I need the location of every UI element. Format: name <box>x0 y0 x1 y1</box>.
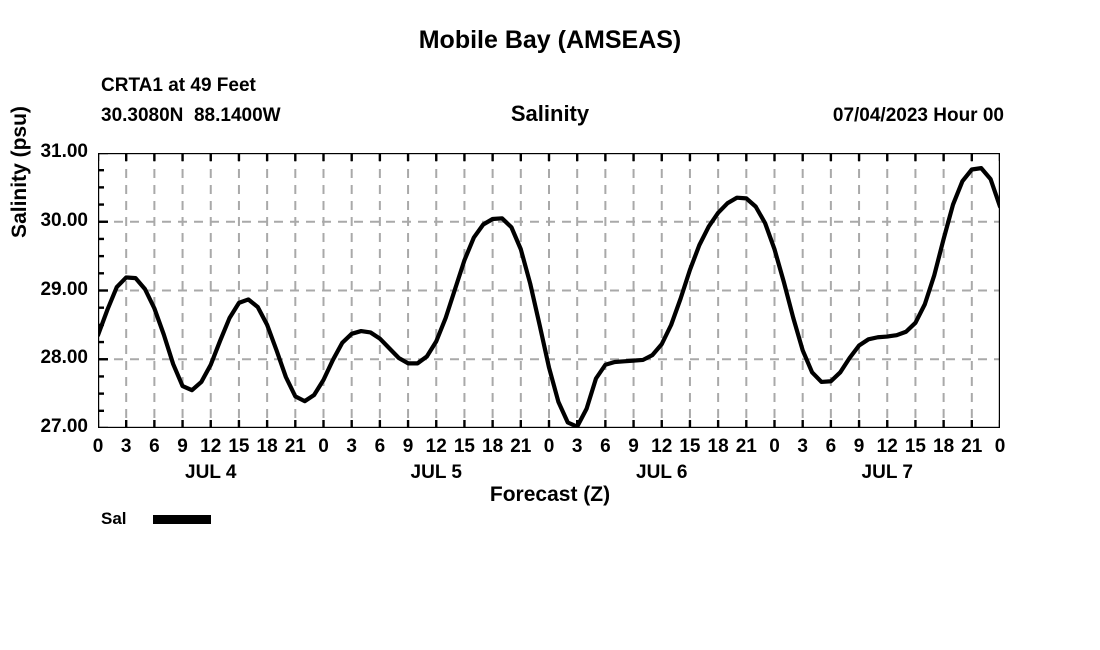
legend-label-sal: Sal <box>101 509 127 529</box>
y-tick-label: 30.00 <box>8 210 88 232</box>
station-depth-label: CRTA1 at 49 Feet <box>101 75 256 97</box>
legend-swatch-sal <box>153 515 211 524</box>
x-tick-label: 0 <box>980 436 1020 458</box>
y-tick-label: 31.00 <box>8 141 88 163</box>
day-label: JUL 4 <box>151 462 271 484</box>
model-run-time-label: 07/04/2023 Hour 00 <box>833 105 1004 127</box>
y-tick-label: 28.00 <box>8 347 88 369</box>
legend: Sal <box>101 509 211 529</box>
day-label: JUL 5 <box>376 462 496 484</box>
grid-lines <box>98 153 1000 428</box>
page-title-top: Mobile Bay (AMSEAS) <box>0 26 1100 55</box>
x-axis-title: Forecast (Z) <box>0 483 1100 507</box>
day-label: JUL 7 <box>827 462 947 484</box>
y-tick-label: 27.00 <box>8 416 88 438</box>
day-label: JUL 6 <box>602 462 722 484</box>
y-tick-label: 29.00 <box>8 279 88 301</box>
plot-area <box>98 153 1000 428</box>
salinity-line-chart <box>98 153 1000 428</box>
chart-page: Mobile Bay (AMSEAS) CRTA1 at 49 Feet 30.… <box>0 0 1100 650</box>
